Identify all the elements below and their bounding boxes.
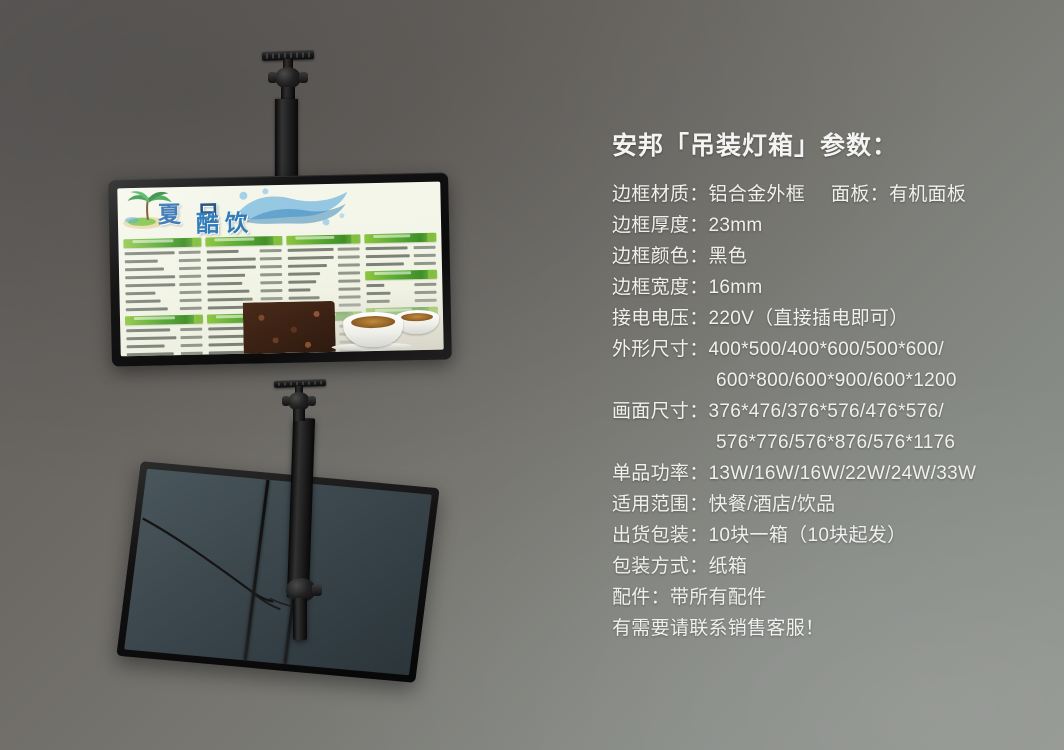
- spec-label: 画面尺寸：: [612, 401, 709, 422]
- menu-section-header: [123, 238, 201, 249]
- menu-item-list: [365, 244, 437, 268]
- spec-line-graphic-size-cont: 576*776/576*876/576*1176: [612, 427, 1058, 458]
- spec-value: 带所有配件: [670, 587, 767, 608]
- spec-line-frame-color: 边框颜色：黑色: [612, 241, 1058, 272]
- spec-label: 单品功率：: [612, 463, 709, 484]
- mount-knob-right: [299, 72, 308, 83]
- menu-section-header: [365, 270, 437, 280]
- coffee-beans: [242, 301, 335, 354]
- light-box-rear: [116, 461, 439, 683]
- spec-line-packaging-method: 包装方式：纸箱: [612, 551, 1058, 582]
- spec-label: 边框宽度：: [612, 277, 709, 298]
- spec-value: 10块一箱（10块起发）: [709, 525, 907, 546]
- menu-section-header: [365, 233, 437, 243]
- coffee-brew: [351, 316, 396, 329]
- menu-item-row: [367, 281, 437, 289]
- spec-value: 黑色: [709, 246, 748, 267]
- spec-line-outer-size: 外形尺寸：400*500/400*600/500*600/: [612, 334, 1058, 365]
- spec-value: 23mm: [709, 215, 763, 236]
- spec-line-graphic-size: 画面尺寸：376*476/376*576/476*576/: [612, 396, 1058, 427]
- spec-line-power: 单品功率：13W/16W/16W/22W/24W/33W: [612, 458, 1058, 489]
- menu-section-header: [205, 236, 283, 247]
- mount-plate-holes: [266, 52, 310, 59]
- spec-panel: 安邦「吊装灯箱」参数： 边框材质：铝合金外框面板：有机面板 边框厚度：23mm …: [612, 126, 1058, 644]
- spec-label: 边框厚度：: [612, 215, 709, 236]
- power-cable: [124, 469, 432, 676]
- spec-label: 适用范围：: [612, 494, 709, 515]
- spec-label: 配件：: [612, 587, 670, 608]
- spec-value: 有需要请联系销售客服！: [612, 618, 824, 639]
- light-box-frame: 夏 日 酷 饮: [108, 172, 452, 366]
- spec-label: 外形尺寸：: [612, 339, 709, 360]
- mount-lower-neck: [293, 409, 305, 421]
- mount-pole-upper: [275, 99, 298, 181]
- menu-board-face: 夏 日 酷 饮: [117, 182, 443, 357]
- menu-item-list: [125, 326, 204, 357]
- mount-knob-rear: [312, 584, 322, 596]
- spec-line-frame-thickness: 边框厚度：23mm: [612, 210, 1058, 241]
- menu-item-row: [366, 260, 436, 268]
- mount-ball-joint: [275, 67, 301, 89]
- menu-section-header: [287, 234, 361, 245]
- spec-line-accessories: 配件：带所有配件: [612, 582, 1058, 613]
- spec-line-frame-width: 边框宽度：16mm: [612, 272, 1058, 303]
- spec-label-panel: 面板：: [831, 184, 889, 205]
- spec-value: 纸箱: [709, 556, 748, 577]
- spec-line-voltage: 接电电压：220V（直接插电即可）: [612, 303, 1058, 334]
- product-photo-scene: 夏 日 酷 饮: [0, 0, 1064, 750]
- spec-value: 13W/16W/16W/22W/24W/33W: [709, 463, 977, 484]
- spec-line-contact-sales: 有需要请联系销售客服！: [612, 613, 1058, 644]
- menu-item-row: [366, 252, 436, 260]
- menu-headline-char-3: 酷: [196, 212, 219, 235]
- spec-value: 220V（直接插电即可）: [709, 308, 909, 329]
- coffee-photo: [242, 289, 443, 354]
- spec-value: 快餐/酒店/饮品: [709, 494, 836, 515]
- mount-stem-rear: [293, 598, 307, 640]
- spec-line-application: 适用范围：快餐/酒店/饮品: [612, 489, 1058, 520]
- spec-value: 16mm: [709, 277, 763, 298]
- spec-line-outer-size-cont: 600*800/600*900/600*1200: [612, 365, 1058, 396]
- menu-item-list: [124, 249, 203, 314]
- mount-knob-right: [308, 396, 316, 406]
- coffee-brew: [401, 313, 434, 322]
- spec-label: 包装方式：: [612, 556, 709, 577]
- menu-item-row: [126, 305, 202, 314]
- rear-panel-seam-left: [244, 480, 270, 661]
- menu-item-row: [127, 350, 203, 357]
- menu-column-left: [121, 235, 205, 357]
- spec-value: 铝合金外框: [709, 184, 806, 205]
- menu-headline-row2: 酷 饮: [196, 212, 248, 236]
- spec-value: 600*800/600*900/600*1200: [716, 370, 957, 391]
- menu-section-header: [125, 315, 203, 326]
- light-box-front: 夏 日 酷 饮: [108, 172, 452, 366]
- spec-label: 接电电压：: [612, 308, 709, 329]
- spec-value: 400*500/400*600/500*600/: [709, 339, 944, 360]
- menu-headline-char-4: 饮: [225, 212, 248, 235]
- spec-value: 576*776/576*876/576*1176: [716, 432, 955, 453]
- mount-knob-left: [268, 72, 277, 83]
- light-box-rear-face: [124, 469, 432, 676]
- spec-line-shipping-package: 出货包装：10块一箱（10块起发）: [612, 520, 1058, 551]
- spec-label: 出货包装：: [612, 525, 709, 546]
- mount-knob-left: [282, 396, 290, 406]
- spec-value-panel: 有机面板: [889, 184, 966, 205]
- spec-label: 边框颜色：: [612, 246, 709, 267]
- spec-value: 376*476/376*576/476*576/: [709, 401, 944, 422]
- spec-label: 边框材质：: [612, 184, 709, 205]
- menu-headline-char-1: 夏: [158, 203, 181, 226]
- menu-item-row: [290, 354, 362, 356]
- spec-line-frame-material: 边框材质：铝合金外框面板：有机面板: [612, 179, 1058, 210]
- light-box-rear-frame: [116, 461, 439, 683]
- spec-panel-title: 安邦「吊装灯箱」参数：: [612, 126, 1058, 162]
- ceiling-mount-upper: [248, 48, 358, 180]
- menu-item-row: [366, 244, 436, 252]
- ceiling-mount-lower: [268, 378, 378, 488]
